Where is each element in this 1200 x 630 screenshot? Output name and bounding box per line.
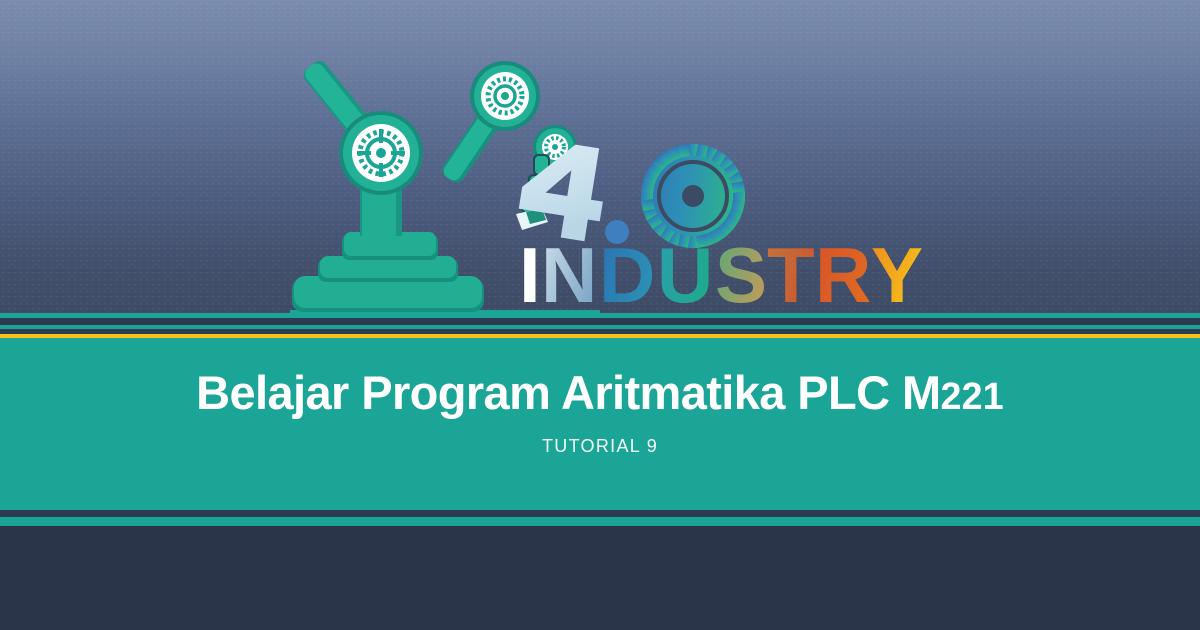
svg-text:S: S [715, 231, 766, 310]
digit-4 [515, 140, 611, 243]
divider-stripe-navy-1 [0, 318, 1200, 325]
svg-text:Y: Y [871, 231, 922, 310]
bottom-stripe-navy [0, 510, 1200, 517]
page-title-main: Belajar Program Aritmatika PLC M [196, 366, 940, 419]
svg-text:D: D [599, 231, 654, 310]
page-title: Belajar Program Aritmatika PLC M221 [0, 369, 1200, 416]
page-title-model-number: 221 [941, 375, 1004, 417]
svg-text:R: R [815, 231, 870, 310]
footer-bar [0, 526, 1200, 630]
industry-lettering: I N D U S T R Y [519, 230, 927, 310]
svg-text:N: N [541, 231, 596, 310]
page-subtitle: TUTORIAL 9 [0, 437, 1200, 455]
title-band: Belajar Program Aritmatika PLC M221 TUTO… [0, 338, 1200, 510]
svg-text:T: T [767, 231, 814, 310]
svg-text:I: I [519, 231, 540, 310]
title-card: I N D U S T R Y Belajar Program Aritmati… [0, 0, 1200, 630]
industry-40-wordmark: I N D U S T R Y [505, 140, 935, 318]
svg-text:U: U [657, 231, 712, 310]
bottom-stripe-teal [0, 517, 1200, 526]
hero-illustration: I N D U S T R Y [0, 0, 1200, 318]
